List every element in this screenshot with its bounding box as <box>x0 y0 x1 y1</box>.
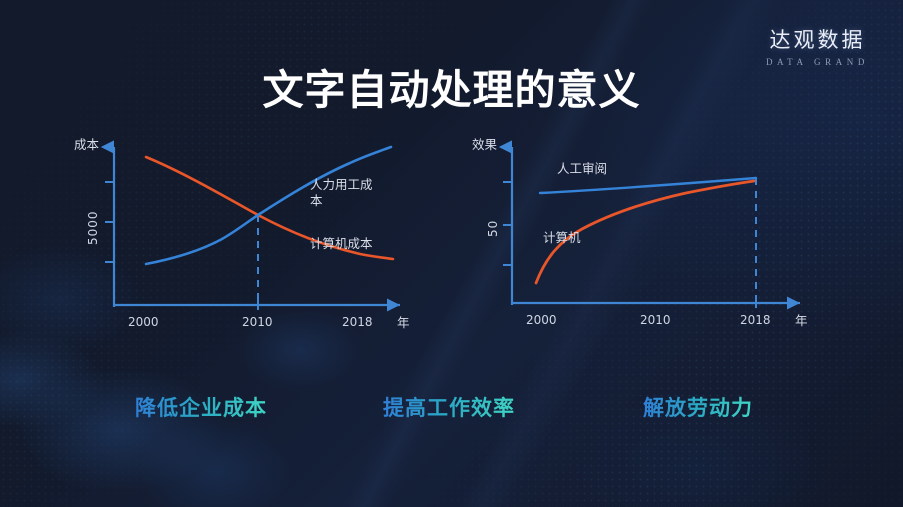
effect-chart-y-axis-title: 效果 <box>472 137 497 153</box>
effect-chart-x-tick-label-2018: 2018 <box>740 313 771 328</box>
effect-chart-label-computer: 计算机 <box>543 230 581 246</box>
effect-chart-y-tick-label: 50 <box>486 220 501 237</box>
effect-chart-x-tick-label-2000: 2000 <box>526 313 557 328</box>
effect-chart-x-tick-label-2010: 2010 <box>640 313 671 328</box>
cost-chart-label-labour: 人力用工成 本 <box>310 177 382 208</box>
effect-chart: 效果 50 2000 2010 2018 年 人工审阅 计算机 <box>460 125 880 350</box>
effect-chart-label-human: 人工审阅 <box>557 161 607 177</box>
page-title: 文字自动处理的意义 <box>0 56 903 116</box>
cost-chart-y-axis-title: 成本 <box>74 137 99 153</box>
cost-chart-label-computer: 计算机成本 <box>310 236 373 252</box>
caption-improve-efficiency: 提高工作效率 <box>383 392 515 422</box>
caption-reduce-cost: 降低企业成本 <box>135 392 267 422</box>
cost-chart-x-tick-label-2018: 2018 <box>342 315 373 330</box>
caption-free-labour: 解放劳动力 <box>643 392 753 422</box>
slide-canvas: 达观数据 DATA GRAND 文字自动处理的意义 <box>0 0 903 507</box>
effect-chart-x-axis-title: 年 <box>795 313 808 329</box>
cost-chart-x-axis-title: 年 <box>397 315 410 331</box>
cost-chart-x-tick-label-2000: 2000 <box>128 315 159 330</box>
logo-chinese-name: 达观数据 <box>766 24 869 54</box>
cost-chart-x-tick-label-2010: 2010 <box>242 315 273 330</box>
cost-chart-y-tick-label: 5000 <box>86 210 101 245</box>
cost-chart: 成本 5000 2000 2010 2018 年 人力用工成 本 计算机成本 <box>60 125 480 350</box>
